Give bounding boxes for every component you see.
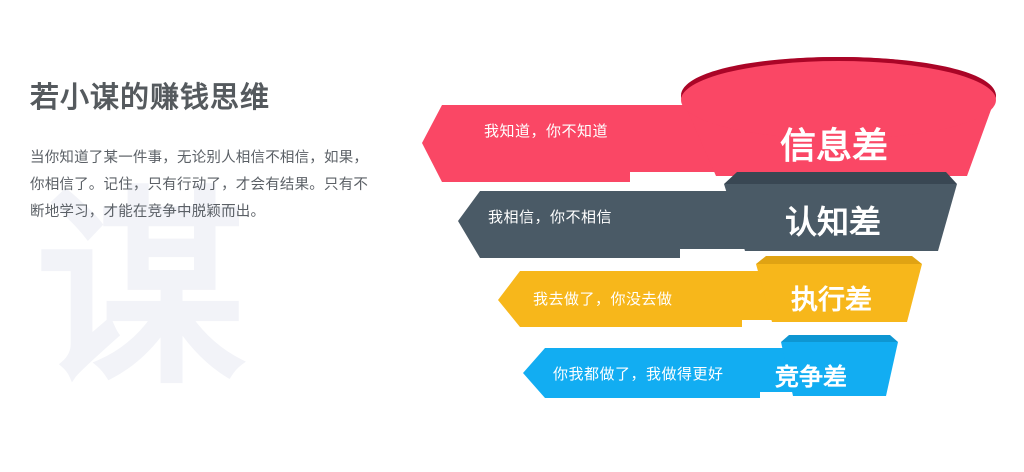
funnel-level-information-gap[interactable]: 我知道，你不知道 信息差 bbox=[422, 57, 996, 182]
caption-execution-gap: 我去做了，你没去做 bbox=[533, 291, 673, 308]
funnel-top-lip-cognition-gap bbox=[724, 172, 957, 184]
stage-label-information-gap: 信息差 bbox=[780, 125, 888, 166]
caption-cognition-gap: 我相信，你不相信 bbox=[488, 209, 612, 226]
funnel-level-execution-gap[interactable]: 我去做了，你没去做 执行差 bbox=[498, 256, 922, 327]
caption-competition-gap: 你我都做了，我做得更好 bbox=[553, 366, 724, 383]
caption-information-gap: 我知道，你不知道 bbox=[484, 123, 608, 140]
funnel-diagram: 我知道，你不知道 信息差 我相信，你不相信 认知差 我去做了，你没去做 执行差 … bbox=[0, 0, 1024, 472]
funnel-level-cognition-gap[interactable]: 我相信，你不相信 认知差 bbox=[458, 172, 957, 258]
funnel-level-competition-gap[interactable]: 你我都做了，我做得更好 竞争差 bbox=[523, 335, 898, 398]
stage-label-competition-gap: 竞争差 bbox=[775, 363, 847, 391]
funnel-top-lip-execution-gap bbox=[756, 256, 922, 264]
stage-label-cognition-gap: 认知差 bbox=[785, 204, 881, 240]
funnel-svg: 我知道，你不知道 信息差 我相信，你不相信 认知差 我去做了，你没去做 执行差 … bbox=[0, 0, 1024, 472]
funnel-top-lip-competition-gap bbox=[781, 335, 898, 342]
stage-label-execution-gap: 执行差 bbox=[791, 284, 872, 315]
